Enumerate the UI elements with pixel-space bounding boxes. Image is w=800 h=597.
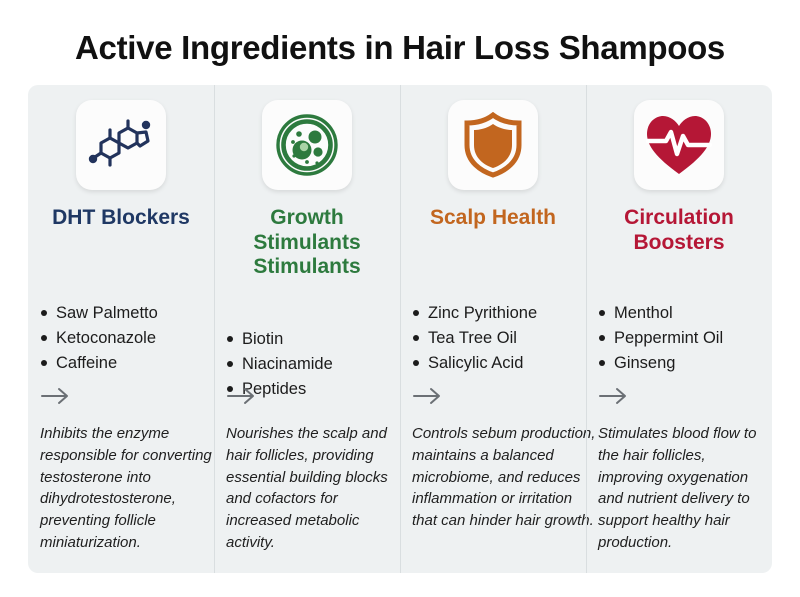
list-item: Ketoconazole	[40, 326, 208, 351]
column-dht-blockers: DHT Blockers Saw Palmetto Ketoconazole C…	[28, 85, 214, 573]
column-description-circulation-boosters: Stimulates blood flow to the hair follic…	[598, 423, 758, 554]
shield-icon	[462, 112, 524, 178]
column-heading-scalp-health: Scalp Health	[412, 206, 574, 231]
list-item: Zinc Pyrithione	[412, 301, 580, 326]
columns-panel: DHT Blockers Saw Palmetto Ketoconazole C…	[28, 85, 772, 573]
ingredient-label: Biotin	[242, 330, 283, 348]
ingredient-label: Niacinamide	[242, 355, 333, 373]
list-item: Biotin	[226, 327, 394, 352]
arrow-right-icon	[40, 387, 70, 409]
list-item: Caffeine	[40, 351, 208, 376]
column-description-dht-blockers: Inhibits the enzyme responsible for conv…	[40, 423, 214, 554]
cell-icon	[274, 112, 340, 178]
list-item: Ginseng	[598, 351, 766, 376]
column-description-growth-stimulants: Nourishes the scalp and hair follicles, …	[226, 423, 400, 554]
icon-tile-circulation-boosters	[634, 100, 724, 190]
molecule-icon	[88, 112, 154, 178]
ingredient-label: Ginseng	[614, 354, 675, 372]
page-title: Active Ingredients in Hair Loss Shampoos	[0, 29, 800, 67]
column-growth-stimulants: Growth Stimulants Stimulants Biotin Niac…	[214, 85, 400, 573]
list-item: Tea Tree Oil	[412, 326, 580, 351]
ingredient-list-scalp-health: Zinc Pyrithione Tea Tree Oil Salicylic A…	[412, 301, 580, 376]
infographic-root: Active Ingredients in Hair Loss Shampoos	[0, 0, 800, 597]
list-item: Peppermint Oil	[598, 326, 766, 351]
heart-pulse-icon	[645, 114, 713, 176]
ingredient-label: Caffeine	[56, 354, 117, 372]
column-heading-circulation-boosters: Circulation Boosters	[598, 206, 760, 255]
ingredient-label: Peppermint Oil	[614, 329, 723, 347]
column-heading-dht-blockers: DHT Blockers	[40, 206, 202, 231]
ingredient-label: Ketoconazole	[56, 329, 156, 347]
list-item: Salicylic Acid	[412, 351, 580, 376]
arrow-right-icon	[598, 387, 628, 409]
column-heading-growth-stimulants: Growth Stimulants Stimulants	[226, 206, 388, 280]
list-item: Niacinamide	[226, 352, 394, 377]
arrow-right-icon	[226, 387, 256, 409]
column-description-scalp-health: Controls sebum production, maintains a b…	[412, 423, 598, 532]
list-item: Saw Palmetto	[40, 301, 208, 326]
ingredient-label: Tea Tree Oil	[428, 329, 517, 347]
ingredient-label: Salicylic Acid	[428, 354, 523, 372]
column-circulation-boosters: Circulation Boosters Menthol Peppermint …	[586, 85, 772, 573]
column-scalp-health: Scalp Health Zinc Pyrithione Tea Tree Oi…	[400, 85, 586, 573]
ingredient-list-dht-blockers: Saw Palmetto Ketoconazole Caffeine	[40, 301, 208, 376]
ingredient-list-circulation-boosters: Menthol Peppermint Oil Ginseng	[598, 301, 766, 376]
list-item: Menthol	[598, 301, 766, 326]
icon-tile-dht-blockers	[76, 100, 166, 190]
icon-tile-scalp-health	[448, 100, 538, 190]
ingredient-label: Saw Palmetto	[56, 304, 158, 322]
ingredient-label: Menthol	[614, 304, 673, 322]
ingredient-label: Zinc Pyrithione	[428, 304, 537, 322]
icon-tile-growth-stimulants	[262, 100, 352, 190]
arrow-right-icon	[412, 387, 442, 409]
